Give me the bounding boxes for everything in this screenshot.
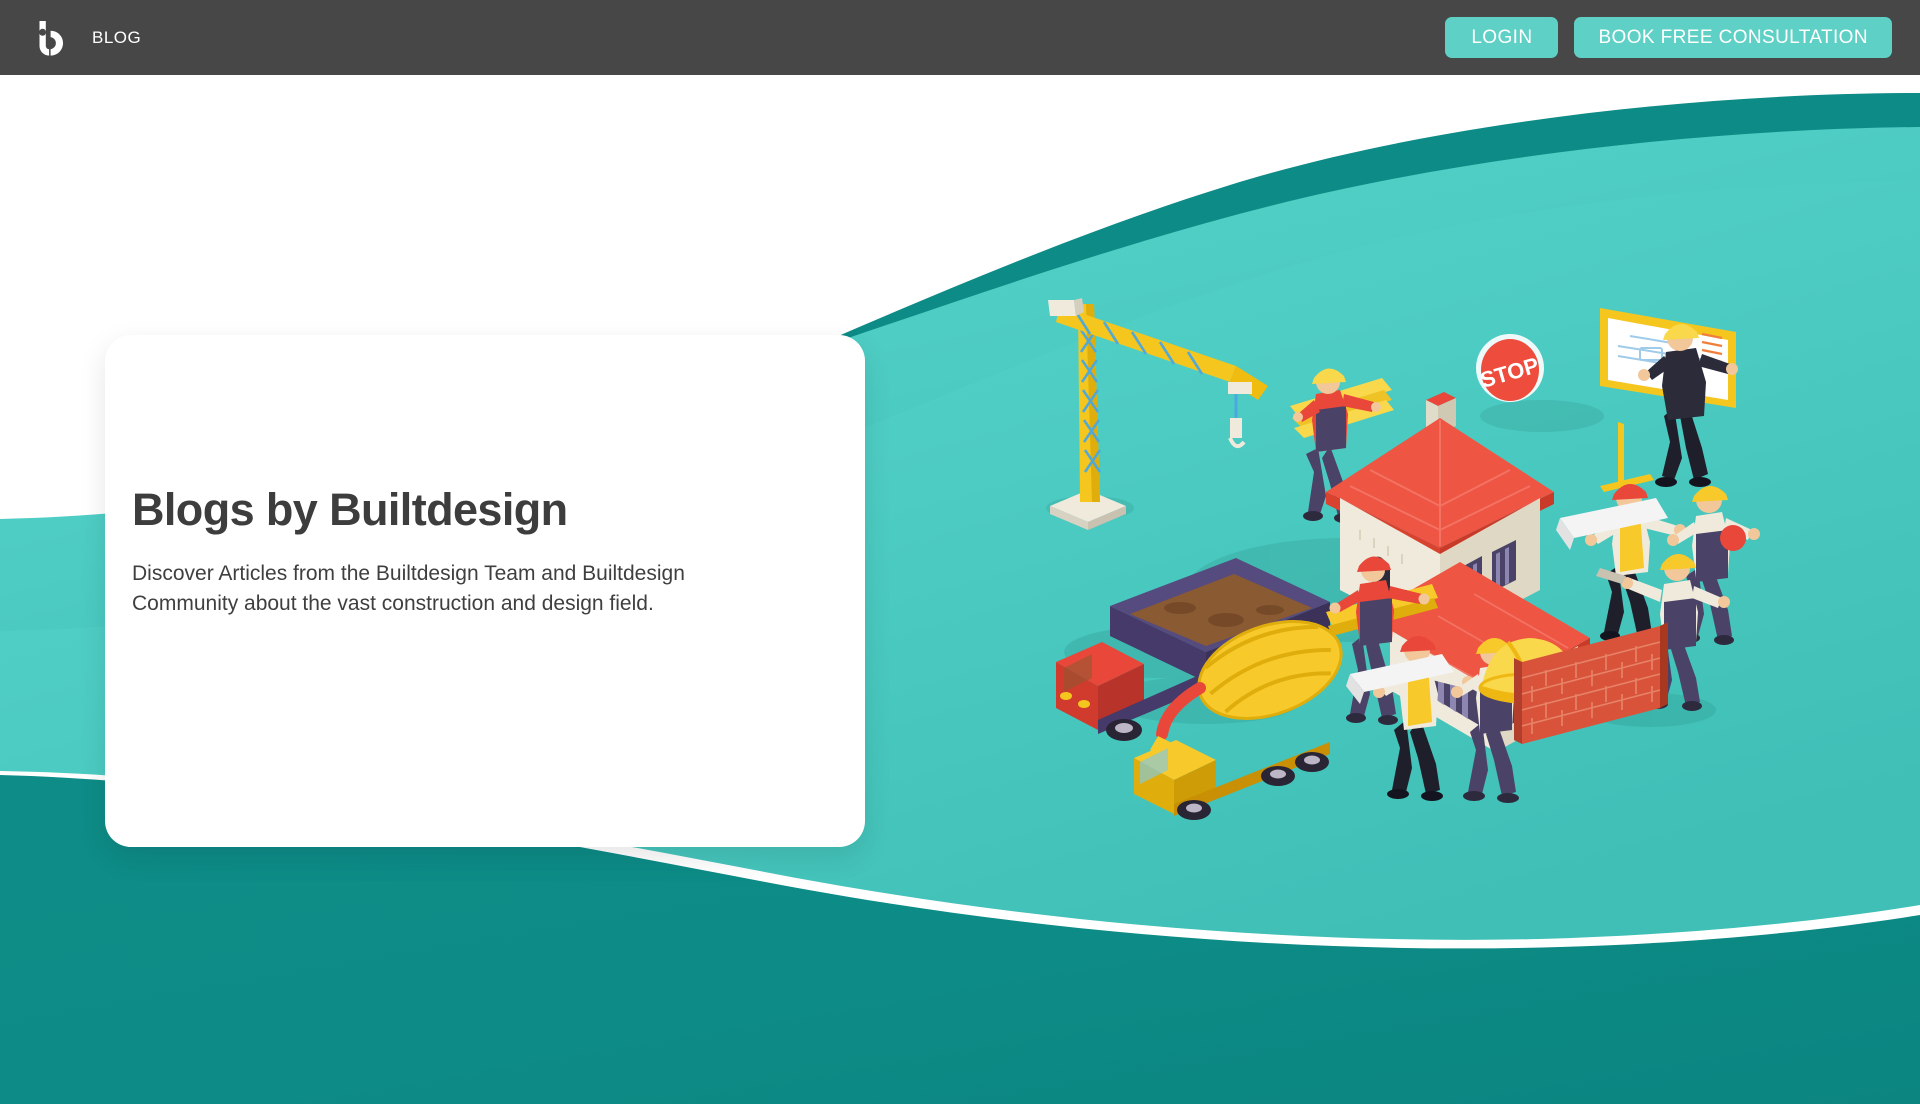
hero-section: STOP (0, 75, 1920, 1104)
navbar-actions: LOGIN BOOK FREE CONSULTATION (1445, 17, 1920, 59)
page-subtitle: Discover Articles from the Builtdesign T… (132, 559, 792, 619)
book-free-consultation-button[interactable]: BOOK FREE CONSULTATION (1574, 17, 1892, 59)
page-title: Blogs by Builtdesign (132, 485, 865, 535)
builtdesign-b-logo-icon (26, 16, 70, 60)
brand-block[interactable]: BLOG (0, 16, 141, 60)
hero-card: Blogs by Builtdesign Discover Articles f… (105, 335, 865, 847)
brand-label: BLOG (92, 28, 141, 48)
login-button[interactable]: LOGIN (1445, 17, 1558, 59)
page-root: BLOG LOGIN BOOK FREE CONSULTATION (0, 0, 1920, 1104)
top-navbar: BLOG LOGIN BOOK FREE CONSULTATION (0, 0, 1920, 75)
